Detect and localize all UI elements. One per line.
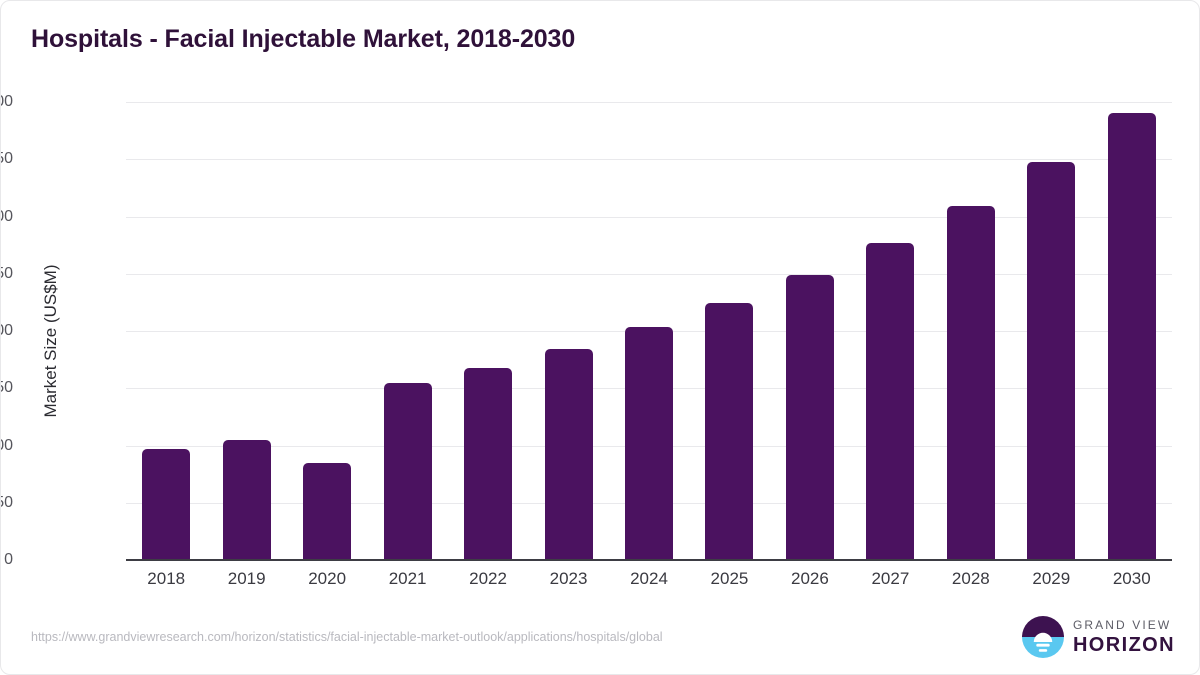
bar-2018[interactable] <box>142 449 190 560</box>
x-axis-tick-label-2028: 2028 <box>926 569 1016 589</box>
gridline <box>126 159 1172 160</box>
x-axis-tick-label-2026: 2026 <box>765 569 855 589</box>
bar-2019[interactable] <box>223 440 271 560</box>
x-axis-tick-label-2029: 2029 <box>1006 569 1096 589</box>
grand-view-horizon-circle-icon <box>1022 616 1064 658</box>
page-title: Hospitals - Facial Injectable Market, 20… <box>31 25 575 54</box>
x-axis-line <box>126 559 1172 561</box>
bar-2026[interactable] <box>786 275 834 560</box>
source-url[interactable]: https://www.grandviewresearch.com/horizo… <box>31 630 663 644</box>
y-axis-title: Market Size (US$M) <box>41 131 61 551</box>
bar-2021[interactable] <box>384 383 432 560</box>
x-axis-tick-label-2018: 2018 <box>121 569 211 589</box>
x-axis-tick-label-2024: 2024 <box>604 569 694 589</box>
y-axis-tick-label: 1250 <box>0 265 13 283</box>
bar-2029[interactable] <box>1027 162 1075 560</box>
y-axis-tick-label: 1500 <box>0 208 13 226</box>
bar-2024[interactable] <box>625 327 673 560</box>
bar-2028[interactable] <box>947 206 995 560</box>
gridline <box>126 102 1172 103</box>
bar-2027[interactable] <box>866 243 914 560</box>
x-axis-tick-label-2019: 2019 <box>202 569 292 589</box>
x-axis-tick-label-2030: 2030 <box>1087 569 1177 589</box>
y-axis-tick-label: 250 <box>0 494 13 512</box>
bar-2025[interactable] <box>705 303 753 560</box>
x-axis-tick-label-2020: 2020 <box>282 569 372 589</box>
bar-2022[interactable] <box>464 368 512 560</box>
y-axis-tick-label: 0 <box>0 551 13 569</box>
gridline <box>126 217 1172 218</box>
x-axis-tick-label-2022: 2022 <box>443 569 533 589</box>
brand-name-line-2: HORIZON <box>1073 635 1175 655</box>
y-axis-tick-label: 750 <box>0 379 13 397</box>
bar-2020[interactable] <box>303 463 351 560</box>
y-axis-tick-label: 2000 <box>0 93 13 111</box>
x-axis-tick-label-2025: 2025 <box>684 569 774 589</box>
bar-2023[interactable] <box>545 349 593 560</box>
bar-2030[interactable] <box>1108 113 1156 560</box>
brand-logo-text: GRAND VIEW HORIZON <box>1073 619 1175 655</box>
x-axis-tick-label-2021: 2021 <box>363 569 453 589</box>
y-axis-tick-label: 500 <box>0 437 13 455</box>
gridline <box>126 274 1172 275</box>
brand-logo: GRAND VIEW HORIZON <box>1022 616 1175 658</box>
plot-area <box>126 102 1172 560</box>
x-axis-tick-label-2023: 2023 <box>524 569 614 589</box>
y-axis-tick-label: 1750 <box>0 150 13 168</box>
x-axis-tick-label-2027: 2027 <box>845 569 935 589</box>
brand-name-line-1: GRAND VIEW <box>1073 619 1175 631</box>
chart-page: Hospitals - Facial Injectable Market, 20… <box>0 0 1200 675</box>
y-axis-tick-label: 1000 <box>0 322 13 340</box>
